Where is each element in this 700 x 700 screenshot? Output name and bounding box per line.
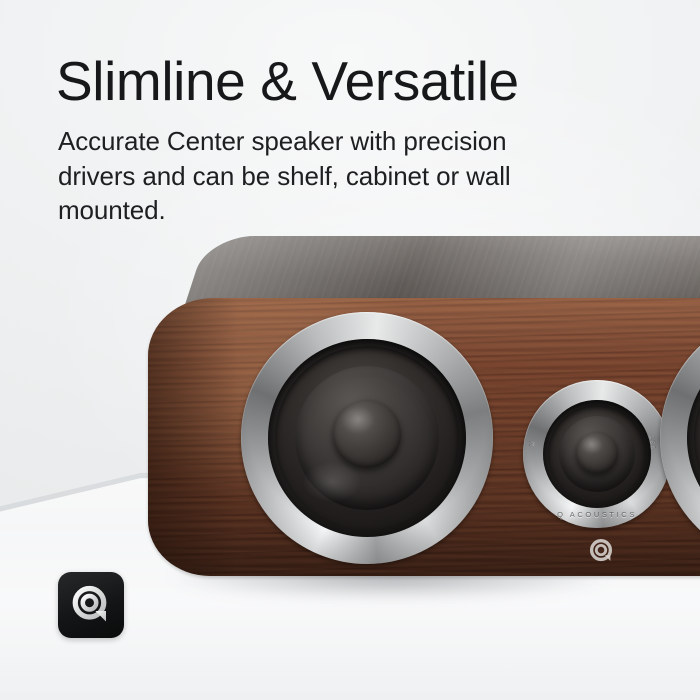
- baffle-q-acoustics-badge: [586, 536, 616, 566]
- speaker-product: Q ACOUSTICS 168 M: [148, 236, 700, 598]
- q-acoustics-logo-icon: [67, 581, 115, 629]
- brand-logo-tile: [58, 572, 124, 638]
- body-copy: Accurate Center speaker with precision d…: [58, 124, 578, 228]
- copy-block: Slimline & Versatile Accurate Center spe…: [56, 52, 656, 228]
- woofer-left-cone-specular: [303, 462, 361, 502]
- driver-woofer-left: [241, 312, 493, 564]
- baffle-left-shade: [148, 298, 238, 576]
- product-hero-image: Slimline & Versatile Accurate Center spe…: [0, 0, 700, 700]
- bezel-side-engraving-left: M: [529, 439, 536, 446]
- cabinet-front-baffle: Q ACOUSTICS 168 M: [148, 298, 700, 576]
- tweeter-dome-highlight: [581, 436, 603, 454]
- woofer-left-dome-highlight: [341, 406, 375, 434]
- tweeter-engraving-text: Q ACOUSTICS: [523, 510, 671, 519]
- q-acoustics-logo-icon: [586, 536, 616, 566]
- headline: Slimline & Versatile: [56, 52, 656, 110]
- driver-tweeter-center: Q ACOUSTICS: [523, 380, 671, 528]
